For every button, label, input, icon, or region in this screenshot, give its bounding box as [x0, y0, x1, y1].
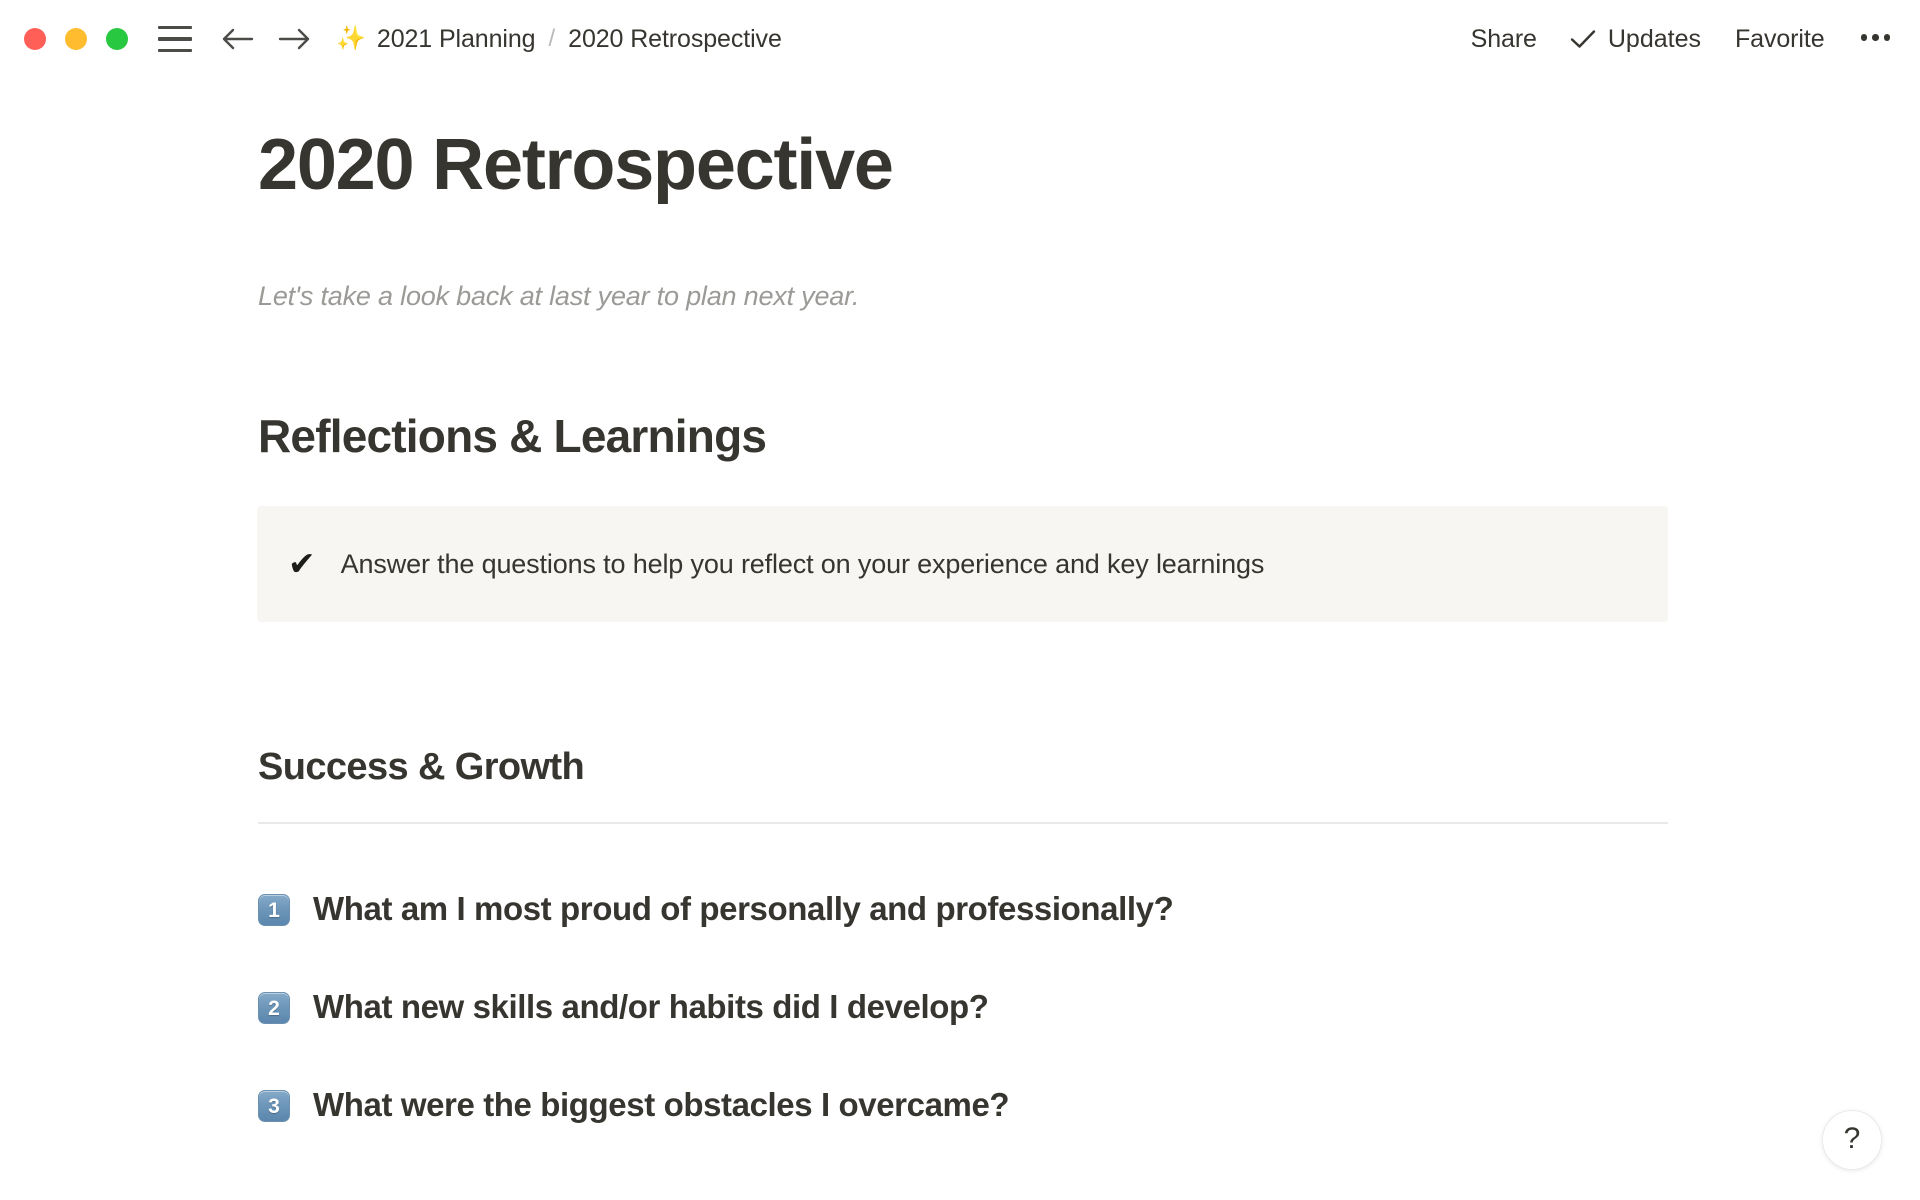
question-text: What were the biggest obstacles I overca…: [313, 1086, 1009, 1124]
ellipsis-icon[interactable]: [1861, 34, 1891, 44]
share-button[interactable]: Share: [1465, 25, 1543, 54]
check-icon: [1569, 28, 1597, 50]
callout-block[interactable]: ✔ Answer the questions to help you refle…: [257, 506, 1668, 622]
keycap-number-label: 1: [268, 900, 280, 921]
keycap-number-label: 3: [268, 1096, 280, 1117]
breadcrumb-separator: /: [548, 25, 555, 53]
titlebar-actions: Share Updates Favorite: [1465, 0, 1890, 78]
page-subtitle[interactable]: Let's take a look back at last year to p…: [258, 281, 859, 312]
ellipsis-dot: [1861, 34, 1868, 41]
hamburger-bar: [158, 26, 192, 29]
section-divider: [258, 822, 1668, 824]
breadcrumb: ✨ 2021 Planning / 2020 Retrospective: [336, 25, 782, 54]
question-list: 1 What am I most proud of personally and…: [258, 873, 1668, 1141]
question-text: What new skills and/or habits did I deve…: [313, 988, 989, 1026]
hamburger-bar: [158, 37, 192, 40]
arrow-right-icon[interactable]: [278, 22, 312, 56]
navigation-arrows: [220, 22, 312, 56]
ellipsis-dot: [1884, 34, 1891, 41]
hamburger-menu-icon[interactable]: [158, 26, 192, 52]
traffic-lights: [24, 28, 128, 50]
keycap-number-label: 2: [268, 998, 280, 1019]
favorite-button[interactable]: Favorite: [1729, 25, 1831, 54]
ellipsis-dot: [1872, 34, 1879, 41]
page-title[interactable]: 2020 Retrospective: [258, 128, 893, 204]
callout-text: Answer the questions to help you reflect…: [341, 549, 1265, 580]
question-text: What am I most proud of personally and p…: [313, 890, 1173, 928]
list-item[interactable]: 3 What were the biggest obstacles I over…: [258, 1069, 1668, 1141]
keycap-number-icon: 1: [258, 894, 290, 926]
close-window-button[interactable]: [24, 28, 46, 50]
titlebar: ✨ 2021 Planning / 2020 Retrospective Sha…: [0, 0, 1920, 78]
check-mark-icon: ✔: [288, 547, 316, 580]
list-item[interactable]: 2 What new skills and/or habits did I de…: [258, 971, 1668, 1043]
minimize-window-button[interactable]: [65, 28, 87, 50]
question-mark-icon: ?: [1844, 1124, 1861, 1154]
section-heading-success[interactable]: Success & Growth: [258, 746, 584, 789]
section-heading-reflections[interactable]: Reflections & Learnings: [258, 409, 766, 463]
keycap-number-icon: 3: [258, 1090, 290, 1122]
keycap-number-icon: 2: [258, 992, 290, 1024]
arrow-left-icon[interactable]: [220, 22, 254, 56]
breadcrumb-parent-link[interactable]: 2021 Planning: [377, 25, 536, 54]
breadcrumb-current-page[interactable]: 2020 Retrospective: [568, 25, 782, 54]
sparkles-icon: ✨: [336, 27, 366, 51]
list-item[interactable]: 1 What am I most proud of personally and…: [258, 873, 1668, 945]
updates-label: Updates: [1608, 25, 1701, 54]
app-window: ✨ 2021 Planning / 2020 Retrospective Sha…: [0, 0, 1920, 1200]
hamburger-bar: [158, 49, 192, 52]
maximize-window-button[interactable]: [106, 28, 128, 50]
help-button[interactable]: ?: [1822, 1110, 1882, 1170]
updates-button[interactable]: Updates: [1569, 25, 1701, 54]
